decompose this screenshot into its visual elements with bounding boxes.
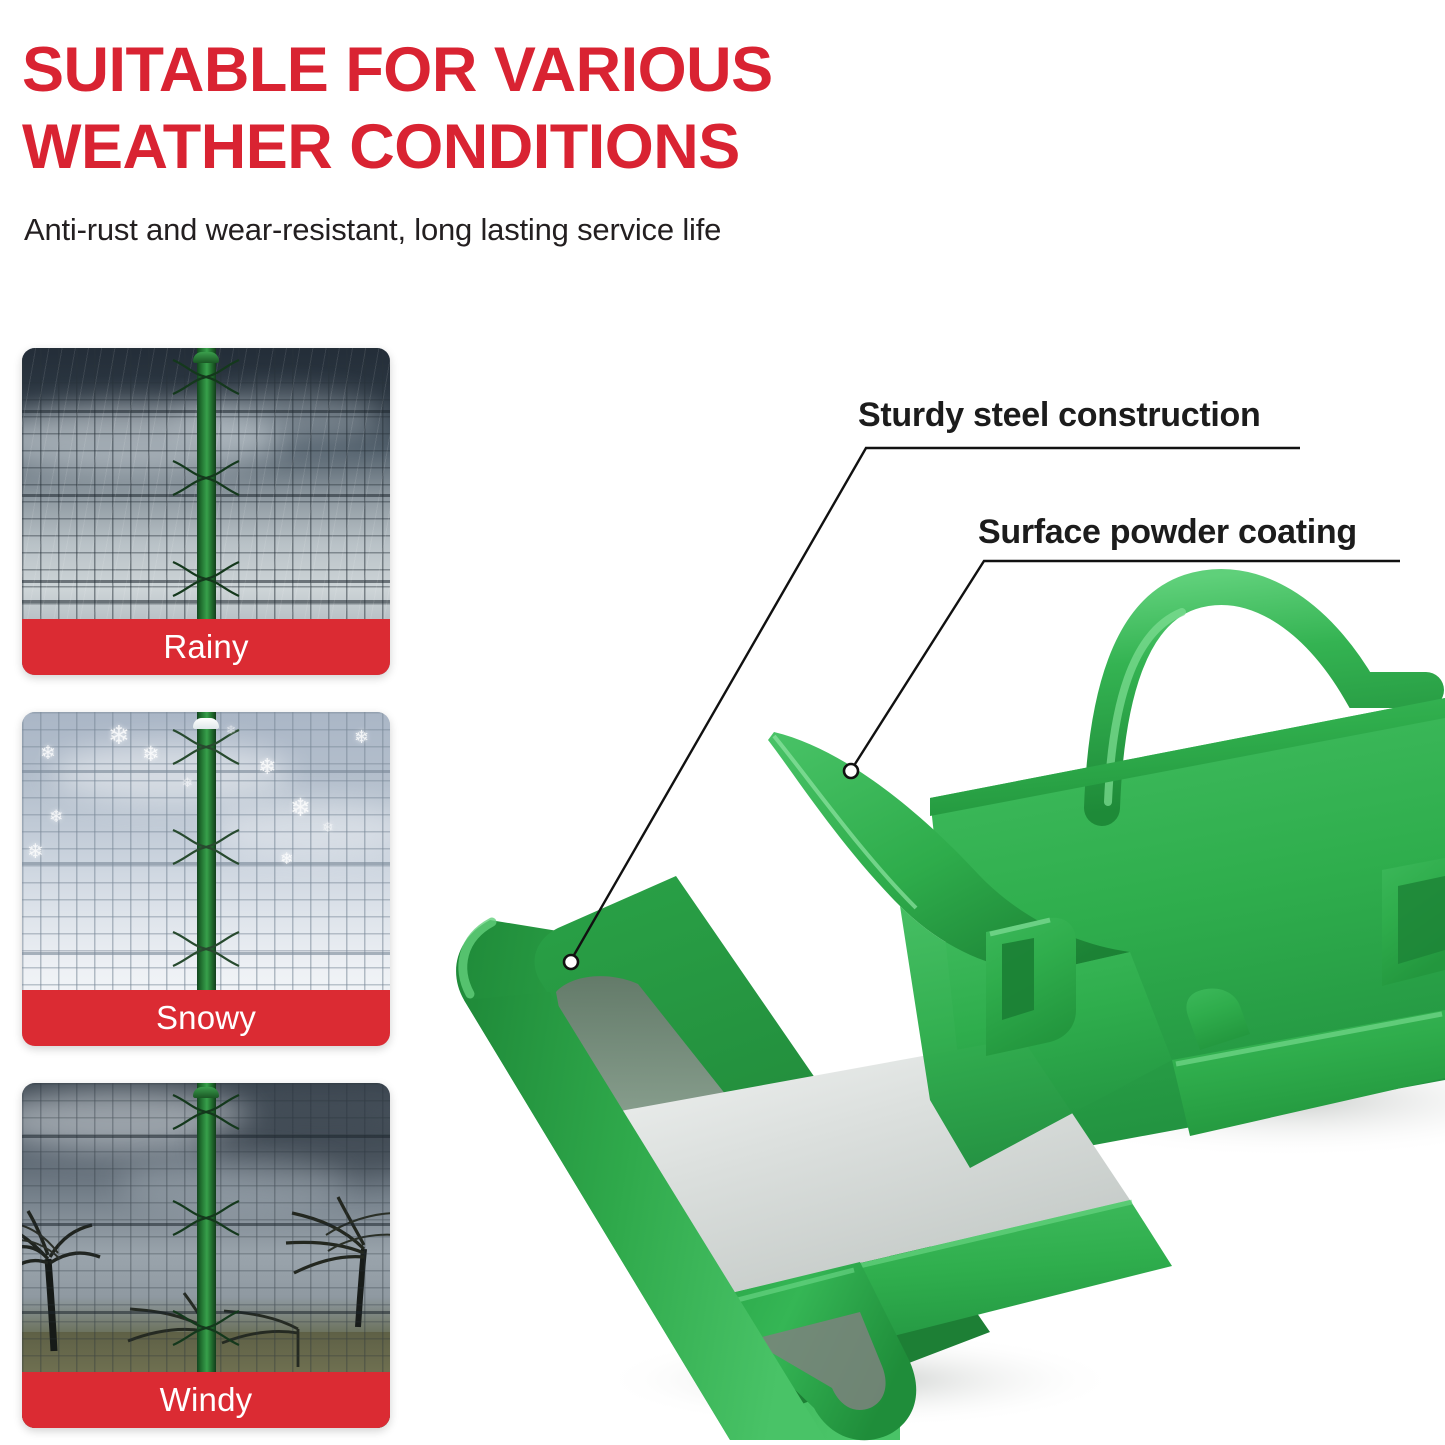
snowflake-icon: ❄ — [280, 852, 293, 868]
snowflake-icon: ❄ — [182, 776, 193, 789]
bracket-tab-opening — [1002, 938, 1034, 1020]
post-wire-clip — [169, 556, 243, 602]
post-wire-clip — [169, 455, 243, 501]
weather-card-label-snowy: Snowy — [22, 990, 390, 1046]
product-illustration — [430, 540, 1445, 1445]
page-subtitle: Anti-rust and wear-resistant, long lasti… — [24, 212, 721, 248]
weather-card-label-windy: Windy — [22, 1372, 390, 1428]
snowflake-icon: ❄ — [40, 744, 56, 763]
page-headline: SUITABLE FOR VARIOUS WEATHER CONDITIONS — [22, 32, 962, 186]
post-wire-clip — [169, 1305, 243, 1351]
bracket-tab-right-opening — [1398, 876, 1445, 964]
callout-label-powder-coating: Surface powder coating — [978, 513, 1357, 552]
snowflake-icon: ❄ — [258, 756, 276, 778]
snowflake-icon: ❄ — [27, 842, 44, 862]
weather-card-windy: Windy — [22, 1083, 390, 1428]
post-wire-clip — [169, 1195, 243, 1241]
snowflake-icon: ❄ — [322, 820, 334, 834]
post-wire-clip — [169, 824, 243, 870]
post-wire-clip — [169, 1089, 243, 1135]
snowflake-icon: ❄ — [226, 724, 236, 736]
snowflake-icon: ❄ — [142, 744, 160, 765]
post-wire-clip — [169, 926, 243, 972]
weather-card-rainy: Rainy — [22, 348, 390, 675]
snowflake-icon: ❄ — [290, 796, 311, 821]
snowflake-icon: ❄ — [108, 722, 130, 748]
snowflake-icon: ❄ — [354, 728, 369, 746]
weather-card-snowy: ❄ ❄ ❄ ❄ ❄ ❄ ❄ ❄ ❄ ❄ ❄ ❄ Snowy — [22, 712, 390, 1046]
post-wire-clip — [169, 354, 243, 400]
weather-card-label-rainy: Rainy — [22, 619, 390, 675]
snowflake-icon: ❄ — [49, 808, 63, 825]
callout-label-sturdy-steel: Sturdy steel construction — [858, 396, 1260, 435]
